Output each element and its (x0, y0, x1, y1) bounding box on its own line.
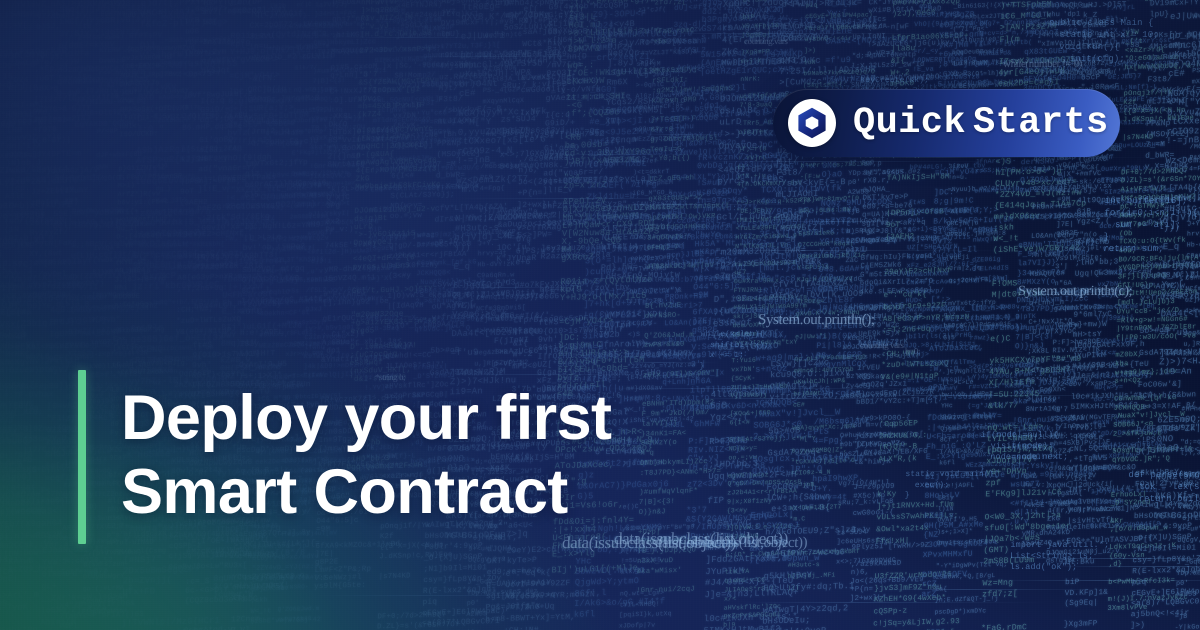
accent-bar (78, 370, 86, 544)
badge-label-starts: Starts (973, 102, 1109, 144)
page-title: Deploy your first Smart Contract (121, 381, 761, 529)
quickstarts-badge[interactable]: QuickStarts (773, 89, 1120, 157)
badge-label-quick: Quick (853, 102, 966, 144)
badge-label: QuickStarts (853, 105, 1109, 142)
page-title-line-1: Deploy your first (121, 381, 761, 455)
page-title-line-2: Smart Contract (121, 455, 761, 529)
chainlink-hexagon-icon (788, 99, 836, 147)
quickstarts-banner: fK9uH&)>L.> t|8y6_B;=>yL4 9b!QVQa{:f: oj… (0, 0, 1200, 630)
